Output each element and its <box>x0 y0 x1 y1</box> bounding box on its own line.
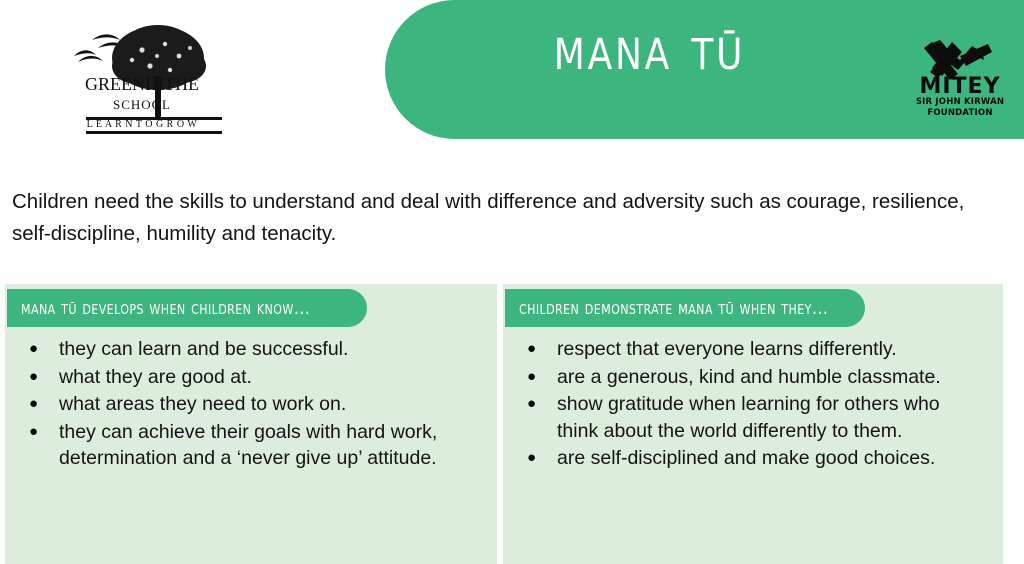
panel-develops-when: Mana Tū develops when children know… ● t… <box>5 284 497 564</box>
list-item: ● are a generous, kind and humble classm… <box>503 364 1003 391</box>
list-item-label: they can learn and be successful. <box>59 336 374 363</box>
bullet-icon: ● <box>29 336 59 363</box>
panel-right-heading-text: Children demonstrate Mana Tū when they… <box>519 297 828 319</box>
content-panels: Mana Tū develops when children know… ● t… <box>0 284 1024 564</box>
list-item-label: are self-disciplined and make good choic… <box>557 445 961 472</box>
intro-paragraph: Children need the skills to understand a… <box>12 186 982 250</box>
mitey-subtitle-line2: Foundation <box>912 109 1008 119</box>
bullet-icon: ● <box>527 336 557 363</box>
page-header: Greenhithe School L E A R N T O G R O W … <box>0 0 1024 160</box>
bullet-icon: ● <box>29 419 59 446</box>
list-item-label: are a generous, kind and humble classmat… <box>557 364 967 391</box>
list-item: ● what they are good at. <box>5 364 497 391</box>
list-item: ● respect that everyone learns different… <box>503 336 1003 363</box>
panel-right-heading-pill: Children demonstrate Mana Tū when they… <box>505 289 865 327</box>
list-item: ● they can achieve their goals with hard… <box>5 419 497 472</box>
bullet-icon: ● <box>527 364 557 391</box>
list-item-label: respect that everyone learns differently… <box>557 336 923 363</box>
bullet-icon: ● <box>527 445 557 472</box>
school-tagline: L E A R N T O G R O W <box>62 120 222 130</box>
bullet-icon: ● <box>527 391 557 418</box>
list-item-label: what they are good at. <box>59 364 278 391</box>
panel-left-heading-pill: Mana Tū develops when children know… <box>7 289 367 327</box>
school-name-primary: Greenhithe <box>62 70 222 95</box>
panel-left-heading-text: Mana Tū develops when children know… <box>21 297 310 319</box>
list-item: ● are self-disciplined and make good cho… <box>503 445 1003 472</box>
title-banner: Mana Tū MITEY Sir John Kirwan Foundation <box>385 0 1024 139</box>
list-item-label: show gratitude when learning for others … <box>557 391 983 444</box>
bullet-icon: ● <box>29 391 59 418</box>
list-item-label: they can achieve their goals with hard w… <box>59 419 485 472</box>
school-name-secondary: School <box>62 94 222 113</box>
list-item: ● they can learn and be successful. <box>5 336 497 363</box>
bullet-icon: ● <box>29 364 59 391</box>
mitey-subtitle-line1: Sir John Kirwan <box>912 98 1008 108</box>
list-item: ● what areas they need to work on. <box>5 391 497 418</box>
mitey-wordmark: MITEY <box>912 76 1008 98</box>
page-title: Mana Tū <box>404 14 896 82</box>
list-item: ● show gratitude when learning for other… <box>503 391 1003 444</box>
panel-demonstrate-when: Children demonstrate Mana Tū when they… … <box>503 284 1003 564</box>
list-item-label: what areas they need to work on. <box>59 391 372 418</box>
mitey-partner-logo: MITEY Sir John Kirwan Foundation <box>912 30 1008 122</box>
panel-left-bullet-list: ● they can learn and be successful. ● wh… <box>5 336 497 473</box>
school-logo: Greenhithe School L E A R N T O G R O W <box>62 18 222 140</box>
panel-right-bullet-list: ● respect that everyone learns different… <box>503 336 1003 473</box>
